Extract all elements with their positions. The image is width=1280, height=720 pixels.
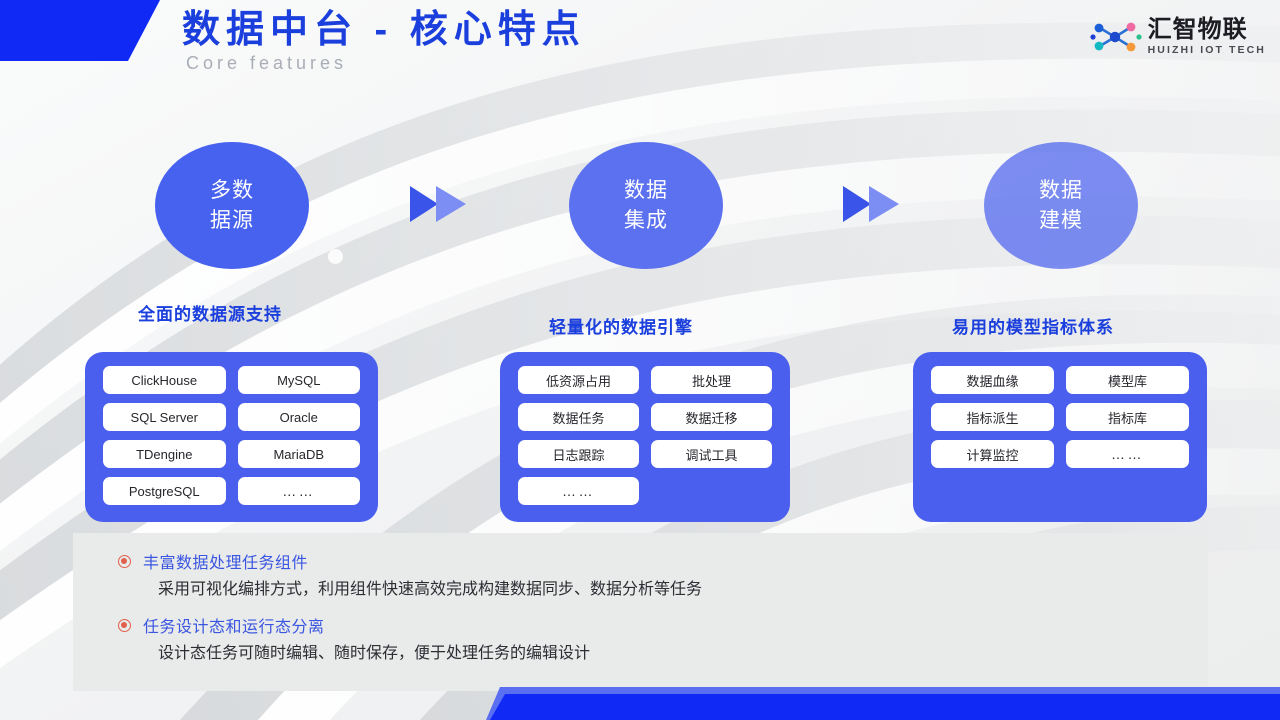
page-subtitle: Core features <box>186 52 586 74</box>
logo-name-en: HUIZHI IOT TECH <box>1148 43 1266 57</box>
chip-item[interactable]: 数据迁移 <box>651 403 772 431</box>
note-title: 任务设计态和运行态分离 <box>143 613 325 637</box>
flow-step-2[interactable]: 数据 集成 <box>569 142 723 269</box>
bullet-target-icon <box>118 555 131 568</box>
chip-item[interactable]: 日志跟踪 <box>518 440 639 468</box>
chip-item[interactable]: SQL Server <box>103 403 226 431</box>
note-body: 设计态任务可随时编辑、随时保存，便于处理任务的编辑设计 <box>73 639 1208 669</box>
note-item: 任务设计态和运行态分离 设计态任务可随时编辑、随时保存，便于处理任务的编辑设计 <box>73 611 1208 669</box>
brand-logo: 汇智物联 HUIZHI IOT TECH <box>1090 17 1266 57</box>
flow-step-1-line2: 据源 <box>210 206 254 236</box>
group-caption-1: 全面的数据源支持 <box>138 300 282 325</box>
feature-notes-panel: 丰富数据处理任务组件 采用可视化编排方式，利用组件快速高效完成构建数据同步、数据… <box>73 533 1208 691</box>
flow-step-3-line2: 建模 <box>1039 206 1083 236</box>
corner-parallelogram-decoration <box>0 0 160 61</box>
chip-item[interactable]: 模型库 <box>1066 366 1189 394</box>
flow-step-3-line1: 数据 <box>1039 176 1083 206</box>
chip-item[interactable]: PostgreSQL <box>103 477 226 505</box>
note-item: 丰富数据处理任务组件 采用可视化编排方式，利用组件快速高效完成构建数据同步、数据… <box>73 547 1208 605</box>
page-title: 数据中台 - 核心特点 <box>182 8 586 52</box>
chip-panel-datasources: ClickHouse MySQL SQL Server Oracle TDeng… <box>85 352 378 522</box>
logo-name-cn: 汇智物联 <box>1148 17 1248 43</box>
chip-item[interactable]: ClickHouse <box>103 366 226 394</box>
flow-step-1[interactable]: 多数 据源 <box>155 142 309 269</box>
chip-item[interactable]: 低资源占用 <box>518 366 639 394</box>
molecule-network-logo-icon <box>1090 17 1142 57</box>
flow-arrow-1 <box>408 180 472 228</box>
chip-placeholder <box>1066 477 1189 505</box>
chip-panel-engine: 低资源占用 批处理 数据任务 数据迁移 日志跟踪 调试工具 …… <box>500 352 790 522</box>
slide-header: 数据中台 - 核心特点 Core features 汇智物联 HUIZHI IO… <box>0 0 1280 86</box>
chip-panel-modeling: 数据血缘 模型库 指标派生 指标库 计算监控 …… <box>913 352 1207 522</box>
chip-item[interactable]: 数据血缘 <box>931 366 1054 394</box>
note-body: 采用可视化编排方式，利用组件快速高效完成构建数据同步、数据分析等任务 <box>73 575 1208 605</box>
chip-item[interactable]: 计算监控 <box>931 440 1054 468</box>
note-heading-row: 丰富数据处理任务组件 <box>73 547 1208 575</box>
chip-placeholder <box>931 477 1054 505</box>
chip-item[interactable]: Oracle <box>238 403 361 431</box>
flow-step-2-line2: 集成 <box>624 206 668 236</box>
chip-item[interactable]: TDengine <box>103 440 226 468</box>
bullet-target-icon <box>118 619 131 632</box>
flow-step-2-line1: 数据 <box>624 176 668 206</box>
chip-item-more[interactable]: …… <box>238 477 361 505</box>
flow-step-1-line1: 多数 <box>210 176 254 206</box>
chip-item-more[interactable]: …… <box>518 477 639 505</box>
flow-arrow-2 <box>841 180 905 228</box>
chip-placeholder <box>651 477 772 505</box>
title-block: 数据中台 - 核心特点 Core features <box>182 8 586 74</box>
chip-item[interactable]: 指标库 <box>1066 403 1189 431</box>
note-heading-row: 任务设计态和运行态分离 <box>73 611 1208 639</box>
small-white-dot-decoration <box>328 249 343 264</box>
chip-item[interactable]: MySQL <box>238 366 361 394</box>
chip-item-more[interactable]: …… <box>1066 440 1189 468</box>
chip-item[interactable]: 批处理 <box>651 366 772 394</box>
footer-parallelogram-bar <box>0 687 1280 720</box>
chip-item[interactable]: 数据任务 <box>518 403 639 431</box>
group-caption-2: 轻量化的数据引擎 <box>549 313 693 338</box>
flow-step-3[interactable]: 数据 建模 <box>984 142 1138 269</box>
chip-item[interactable]: 调试工具 <box>651 440 772 468</box>
logo-text-block: 汇智物联 HUIZHI IOT TECH <box>1148 17 1266 57</box>
chip-item[interactable]: MariaDB <box>238 440 361 468</box>
group-caption-3: 易用的模型指标体系 <box>952 313 1114 338</box>
note-title: 丰富数据处理任务组件 <box>143 549 308 573</box>
chip-item[interactable]: 指标派生 <box>931 403 1054 431</box>
